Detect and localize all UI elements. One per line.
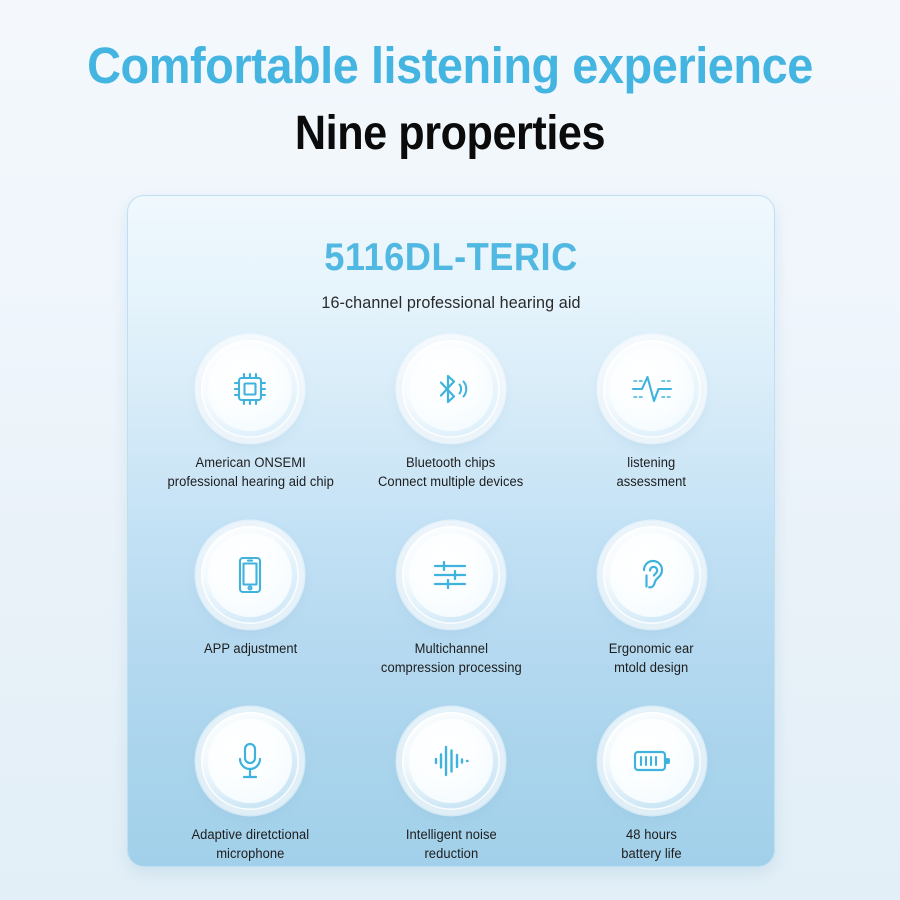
ear-icon bbox=[610, 533, 694, 617]
soundbars-icon bbox=[409, 719, 493, 803]
product-model-title: 5116DL-TERIC bbox=[151, 236, 752, 280]
page-headings: Comfortable listening experience Nine pr… bbox=[0, 0, 900, 163]
feature-label: American ONSEMI professional hearing aid… bbox=[167, 453, 333, 491]
feature-icon-circle bbox=[402, 340, 500, 438]
feature-label: APP adjustment bbox=[204, 639, 297, 658]
feature-icon-circle bbox=[201, 526, 299, 624]
feature-item[interactable]: Intelligent noise reduction bbox=[351, 712, 552, 867]
feature-icon-circle bbox=[603, 526, 701, 624]
microphone-icon bbox=[208, 719, 292, 803]
feature-item[interactable]: 48 hours battery life bbox=[551, 712, 752, 867]
feature-item[interactable]: Multichannel compression processing bbox=[351, 526, 552, 712]
product-subtitle: 16-channel professional hearing aid bbox=[144, 293, 758, 313]
feature-item[interactable]: American ONSEMI professional hearing aid… bbox=[150, 340, 351, 526]
feature-icon-circle bbox=[402, 526, 500, 624]
feature-icon-circle bbox=[603, 712, 701, 810]
feature-item[interactable]: Adaptive diretctional microphone bbox=[150, 712, 351, 867]
feature-item[interactable]: Bluetooth chips Connect multiple devices bbox=[351, 340, 552, 526]
feature-label: listening assessment bbox=[617, 453, 687, 491]
feature-item[interactable]: APP adjustment bbox=[150, 526, 351, 712]
waveform-icon bbox=[610, 347, 694, 431]
smartphone-icon bbox=[208, 533, 292, 617]
feature-icon-circle bbox=[402, 712, 500, 810]
sliders-icon bbox=[409, 533, 493, 617]
feature-label: Adaptive diretctional microphone bbox=[191, 825, 309, 863]
feature-grid: American ONSEMI professional hearing aid… bbox=[128, 340, 774, 867]
feature-label: 48 hours battery life bbox=[621, 825, 681, 863]
headline-primary: Comfortable listening experience bbox=[36, 38, 864, 93]
product-feature-card: 5116DL-TERIC 16-channel professional hea… bbox=[127, 195, 775, 867]
feature-label: Intelligent noise reduction bbox=[406, 825, 497, 863]
feature-item[interactable]: Ergonomic ear mtold design bbox=[551, 526, 752, 712]
chip-icon bbox=[208, 347, 292, 431]
feature-label: Multichannel compression processing bbox=[381, 639, 522, 677]
feature-icon-circle bbox=[201, 712, 299, 810]
feature-label: Ergonomic ear mtold design bbox=[609, 639, 694, 677]
headline-secondary: Nine properties bbox=[45, 105, 855, 163]
feature-icon-circle bbox=[603, 340, 701, 438]
feature-item[interactable]: listening assessment bbox=[551, 340, 752, 526]
feature-label: Bluetooth chips Connect multiple devices bbox=[378, 453, 523, 491]
bluetooth-icon bbox=[409, 347, 493, 431]
battery-icon bbox=[610, 719, 694, 803]
feature-icon-circle bbox=[201, 340, 299, 438]
